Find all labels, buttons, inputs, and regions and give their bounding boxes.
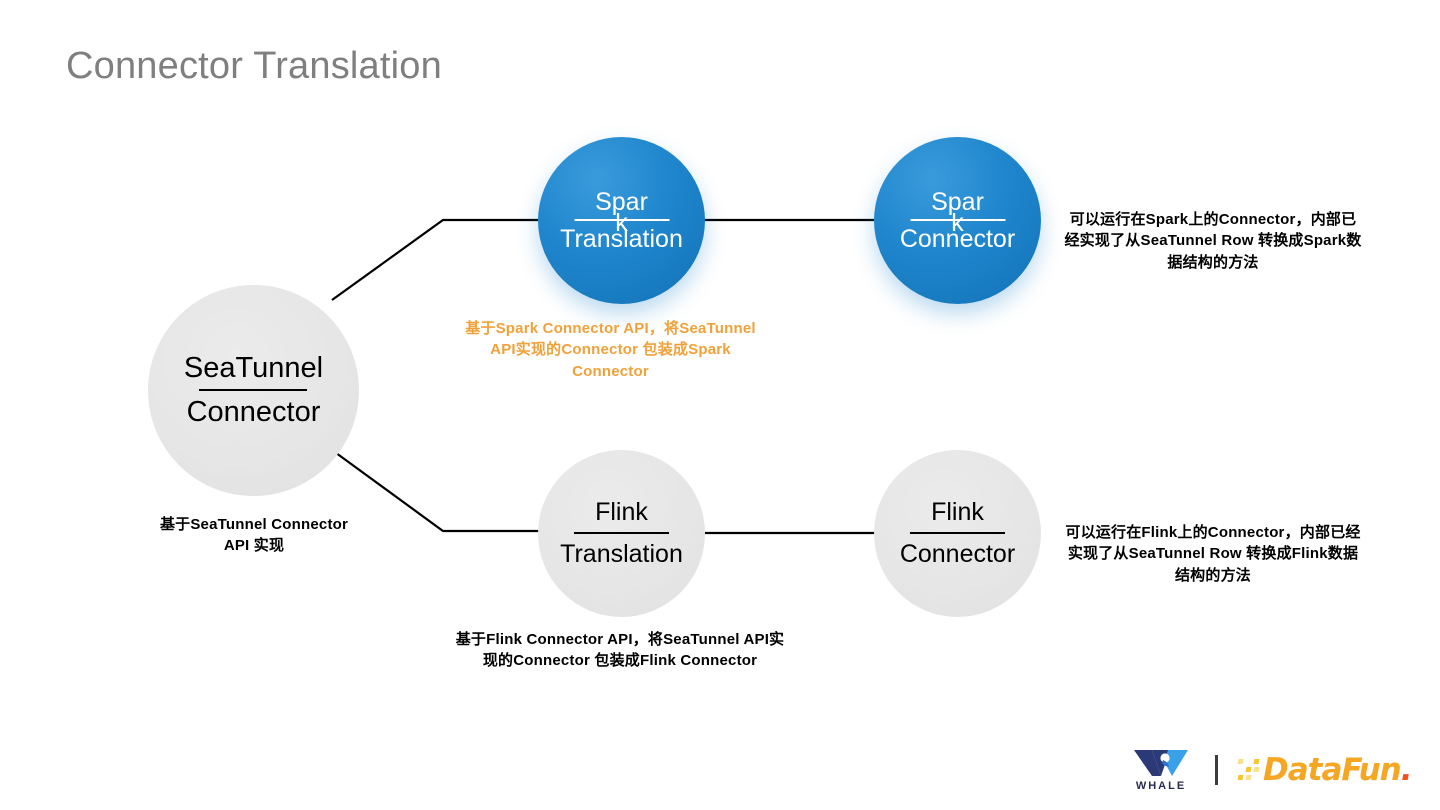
node-flink-translation-label-stack: Flink Translation <box>560 499 683 568</box>
node-spark-connector[interactable]: Spar k Connector <box>874 137 1041 304</box>
node-spark-connector-label-stack: Spar k Connector <box>874 189 1041 253</box>
whale-mark-icon <box>1132 749 1190 779</box>
node-spark-translation[interactable]: Spar k Translation <box>538 137 705 304</box>
whale-logo: WHALE <box>1125 749 1197 792</box>
datafun-wordmark: DataFun. <box>1263 752 1412 788</box>
node-flink-connector-label-stack: Flink Connector <box>900 499 1015 568</box>
wire-seatunnel-to-spark <box>332 220 545 300</box>
node-seatunnel-line1: SeaTunnel <box>184 353 323 384</box>
caption-spark-translation: 基于Spark Connector API，将SeaTunnel API实现的C… <box>458 318 763 382</box>
node-flink-translation-line1: Flink <box>595 499 648 526</box>
node-spark-connector-line2: Connector <box>900 226 1015 253</box>
caption-flink-connector: 可以运行在Flink上的Connector，内部已经实现了从SeaTunnel … <box>1063 522 1363 586</box>
node-seatunnel-divider <box>199 389 307 391</box>
node-spark-translation-divider <box>574 219 669 221</box>
datafun-dots-icon <box>1238 759 1260 781</box>
datafun-period: . <box>1401 752 1412 788</box>
wire-seatunnel-to-flink <box>332 450 548 531</box>
node-flink-connector-line2: Connector <box>900 541 1015 568</box>
node-flink-connector-line1: Flink <box>931 499 984 526</box>
caption-flink-translation: 基于Flink Connector API，将SeaTunnel API实现的C… <box>455 629 785 672</box>
footer-branding: WHALE DataFun. <box>1125 745 1425 795</box>
datafun-logo: DataFun. <box>1238 752 1412 788</box>
slide-canvas: Connector Translation SeaTunnel Connecto… <box>0 0 1440 810</box>
node-flink-translation[interactable]: Flink Translation <box>538 450 705 617</box>
node-spark-translation-label-stack: Spar k Translation <box>538 189 705 253</box>
node-flink-connector[interactable]: Flink Connector <box>874 450 1041 617</box>
node-flink-connector-divider <box>910 532 1005 534</box>
node-seatunnel-label-stack: SeaTunnel Connector <box>184 353 323 429</box>
datafun-label: DataFun <box>1263 752 1401 788</box>
node-flink-translation-line2: Translation <box>560 541 683 568</box>
whale-label: WHALE <box>1136 780 1186 792</box>
footer-divider <box>1215 755 1218 785</box>
node-spark-connector-divider <box>910 219 1005 221</box>
node-flink-translation-divider <box>574 532 669 534</box>
node-seatunnel-connector[interactable]: SeaTunnel Connector <box>148 285 359 496</box>
caption-spark-connector: 可以运行在Spark上的Connector，内部已经实现了从SeaTunnel … <box>1063 209 1363 273</box>
node-seatunnel-line2: Connector <box>187 397 321 428</box>
caption-seatunnel: 基于SeaTunnel Connector API 实现 <box>150 514 358 557</box>
node-spark-translation-line2: Translation <box>560 226 683 253</box>
